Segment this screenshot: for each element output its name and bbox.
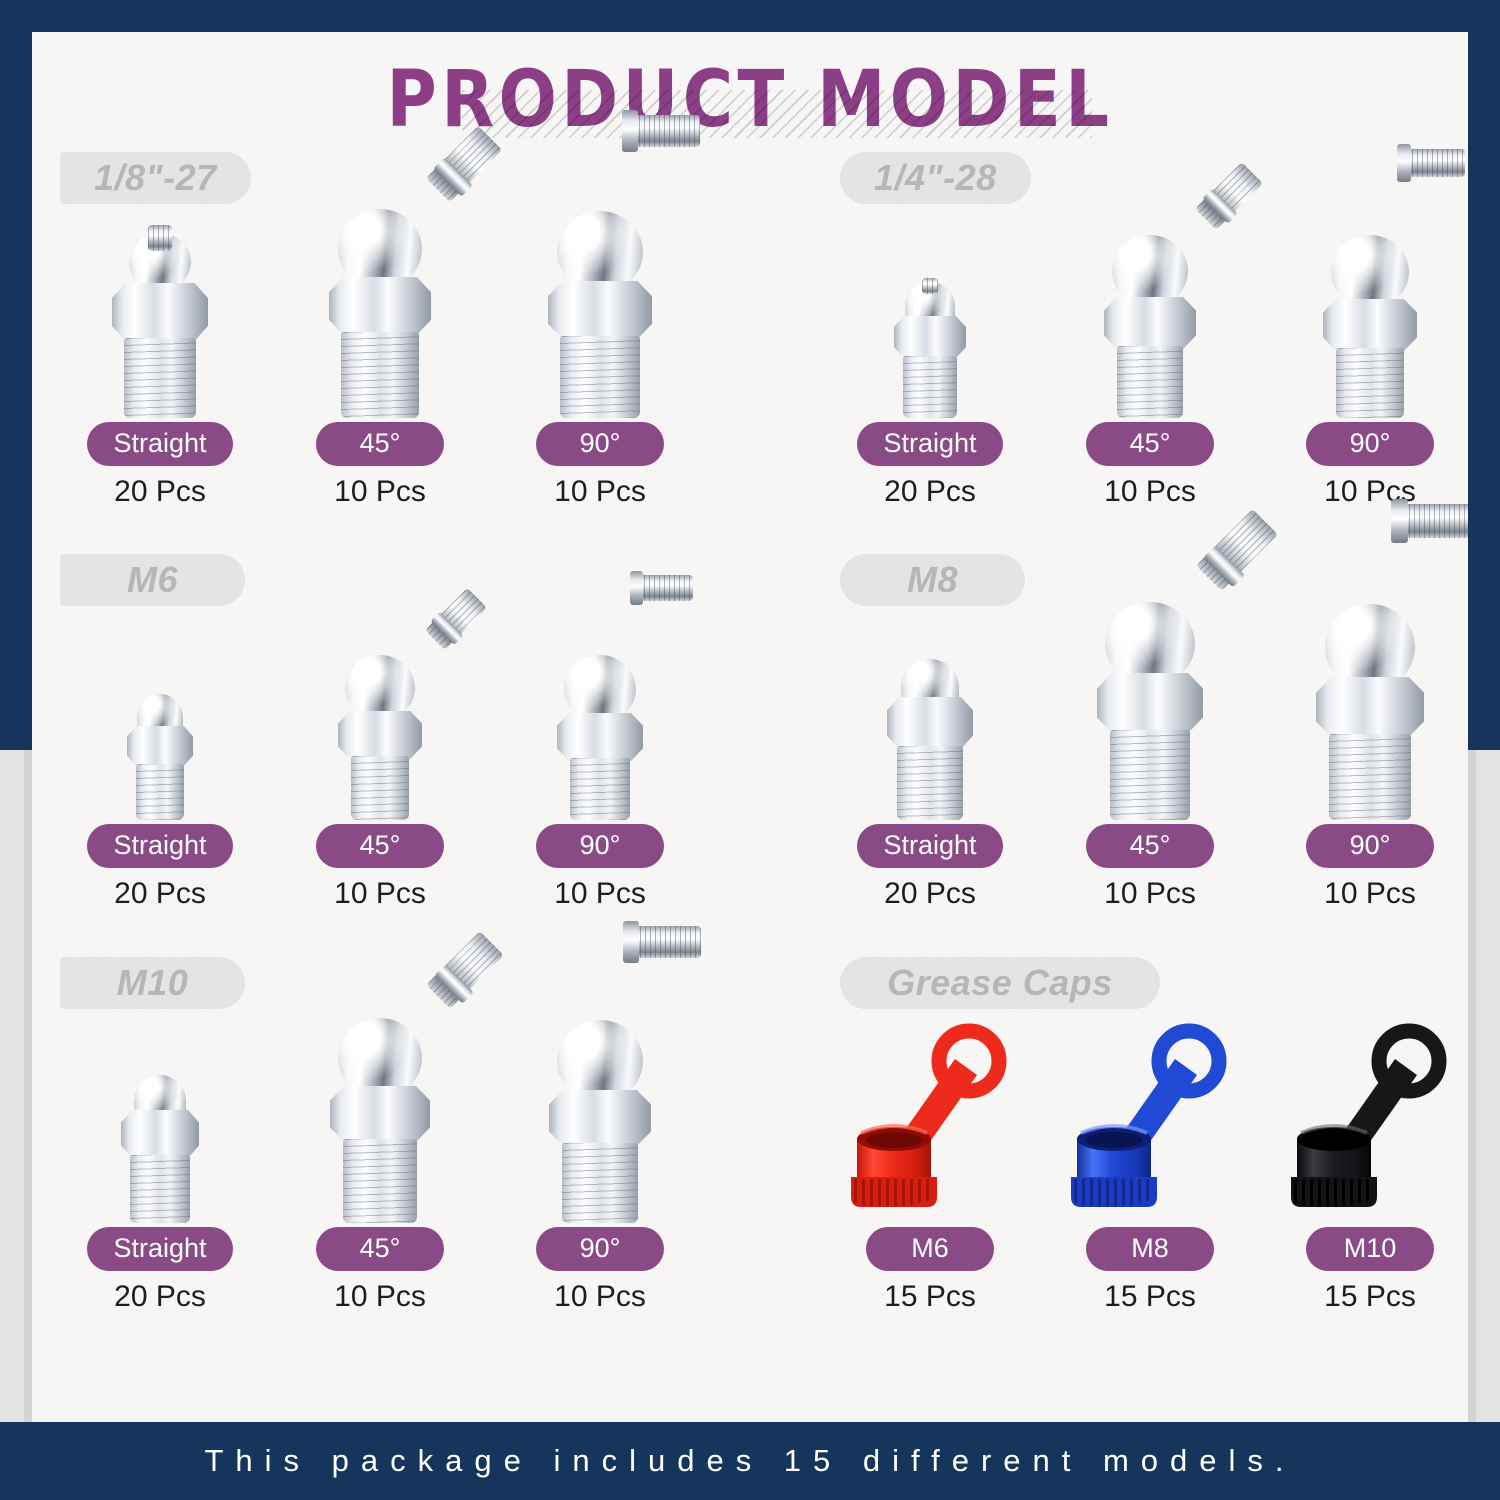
section-items: M6 15 Pcs	[812, 1009, 1468, 1337]
product-item[interactable]: Straight 20 Pcs	[60, 1009, 260, 1314]
item-quantity: 20 Pcs	[60, 877, 260, 911]
item-quantity: 20 Pcs	[830, 475, 1030, 509]
product-item[interactable]: 45° 10 Pcs	[1050, 204, 1250, 509]
item-type-badge: M8	[1086, 1227, 1214, 1271]
item-type-badge: M10	[1306, 1227, 1434, 1271]
product-item[interactable]: M8 15 Pcs	[1050, 1009, 1250, 1314]
item-type-badge: M6	[866, 1227, 994, 1271]
item-type-badge: 45°	[316, 824, 444, 868]
item-type-badge: 90°	[1306, 422, 1434, 466]
90-zerk-icon	[500, 204, 700, 422]
section-items: Straight 20 Pcs 45° 10 Pcs	[812, 606, 1468, 934]
item-quantity: 10 Pcs	[280, 1280, 480, 1314]
item-quantity: 10 Pcs	[1050, 475, 1250, 509]
item-quantity: 10 Pcs	[280, 475, 480, 509]
section-thread-m6: M6 Straight 20 Pcs	[42, 554, 742, 934]
straight-zerk-icon	[60, 1009, 260, 1227]
banner-text: This package includes 15 different model…	[204, 1443, 1295, 1479]
grease-cap-blue-icon	[1050, 1009, 1250, 1227]
item-type-badge: 90°	[536, 1227, 664, 1271]
product-item[interactable]: 45° 10 Pcs	[280, 204, 480, 509]
item-quantity: 10 Pcs	[1050, 877, 1250, 911]
item-type-badge: 45°	[1086, 422, 1214, 466]
product-item[interactable]: 90° 10 Pcs	[1270, 606, 1468, 911]
section-thread-m10: M10 Straight 20 Pcs	[42, 957, 742, 1337]
product-item[interactable]: Straight 20 Pcs	[60, 606, 260, 911]
item-quantity: 10 Pcs	[500, 1280, 700, 1314]
section-label: Grease Caps	[840, 957, 1160, 1009]
section-label: 1/4"-28	[840, 152, 1031, 204]
item-type-badge: Straight	[857, 422, 1002, 466]
item-quantity: 20 Pcs	[60, 1280, 260, 1314]
item-type-badge: Straight	[87, 1227, 232, 1271]
section-label: M6	[60, 554, 245, 606]
item-quantity: 15 Pcs	[830, 1280, 1030, 1314]
frame-rail-right-edge	[1468, 750, 1476, 1422]
product-item[interactable]: Straight 20 Pcs	[830, 204, 1030, 509]
item-type-badge: 45°	[316, 1227, 444, 1271]
section-thread-1-8-27: 1/8"-27 Straight 20 Pcs	[42, 152, 742, 532]
item-type-badge: 90°	[536, 824, 664, 868]
section-label: M10	[60, 957, 245, 1009]
item-type-badge: 90°	[536, 422, 664, 466]
item-type-badge: 45°	[316, 422, 444, 466]
45-zerk-icon	[280, 1009, 480, 1227]
section-label: 1/8"-27	[60, 152, 251, 204]
item-type-badge: Straight	[857, 824, 1002, 868]
title-container: PRODUCT MODEL	[32, 60, 1468, 142]
product-item[interactable]: M10 15 Pcs	[1270, 1009, 1468, 1314]
45-zerk-icon	[280, 204, 480, 422]
straight-zerk-icon	[830, 204, 1030, 422]
product-item[interactable]: M6 15 Pcs	[830, 1009, 1030, 1314]
45-zerk-icon	[1050, 204, 1250, 422]
item-quantity: 10 Pcs	[1270, 877, 1468, 911]
product-item[interactable]: 45° 10 Pcs	[280, 1009, 480, 1314]
frame-rail-left-edge	[24, 750, 32, 1422]
item-type-badge: Straight	[87, 824, 232, 868]
item-type-badge: Straight	[87, 422, 232, 466]
item-quantity: 10 Pcs	[280, 877, 480, 911]
product-item[interactable]: 45° 10 Pcs	[280, 606, 480, 911]
section-items: Straight 20 Pcs 45° 10 Pcs	[812, 204, 1468, 532]
item-type-badge: 90°	[1306, 824, 1434, 868]
90-zerk-icon	[1270, 606, 1468, 824]
grease-cap-red-icon	[830, 1009, 1030, 1227]
straight-zerk-icon	[60, 606, 260, 824]
section-thread-m8: M8 Straight 20 Pcs	[812, 554, 1468, 934]
product-item[interactable]: 90° 10 Pcs	[500, 1009, 700, 1314]
product-item[interactable]: 90° 10 Pcs	[500, 204, 700, 509]
45-zerk-icon	[1050, 606, 1250, 824]
section-thread-1-4-28: 1/4"-28 Straight 20 Pcs	[812, 152, 1468, 532]
90-zerk-icon	[1270, 204, 1468, 422]
section-grease-caps: Grease Caps	[812, 957, 1468, 1337]
section-items: Straight 20 Pcs 45° 10 Pcs	[42, 1009, 742, 1337]
product-item[interactable]: 45° 10 Pcs	[1050, 606, 1250, 911]
straight-zerk-icon	[60, 204, 260, 422]
90-zerk-icon	[500, 606, 700, 824]
poster-root: PRODUCT MODEL 1/8"-27	[0, 0, 1500, 1500]
content-panel: PRODUCT MODEL 1/8"-27	[32, 32, 1468, 1422]
45-zerk-icon	[280, 606, 480, 824]
item-quantity: 15 Pcs	[1270, 1280, 1468, 1314]
page-title: PRODUCT MODEL	[387, 60, 1114, 142]
product-item[interactable]: 90° 10 Pcs	[1270, 204, 1468, 509]
item-type-badge: 45°	[1086, 824, 1214, 868]
section-items: Straight 20 Pcs 45° 10 Pcs	[42, 204, 742, 532]
product-item[interactable]: 90° 10 Pcs	[500, 606, 700, 911]
straight-zerk-icon	[830, 606, 1030, 824]
item-quantity: 20 Pcs	[60, 475, 260, 509]
grease-cap-black-icon	[1270, 1009, 1468, 1227]
item-quantity: 15 Pcs	[1050, 1280, 1250, 1314]
product-item[interactable]: Straight 20 Pcs	[830, 606, 1030, 911]
item-quantity: 10 Pcs	[500, 475, 700, 509]
90-zerk-icon	[500, 1009, 700, 1227]
product-item[interactable]: Straight 20 Pcs	[60, 204, 260, 509]
item-quantity: 20 Pcs	[830, 877, 1030, 911]
section-label: M8	[840, 554, 1025, 606]
item-quantity: 10 Pcs	[500, 877, 700, 911]
bottom-banner: This package includes 15 different model…	[0, 1422, 1500, 1500]
section-items: Straight 20 Pcs 45° 10 Pcs	[42, 606, 742, 934]
